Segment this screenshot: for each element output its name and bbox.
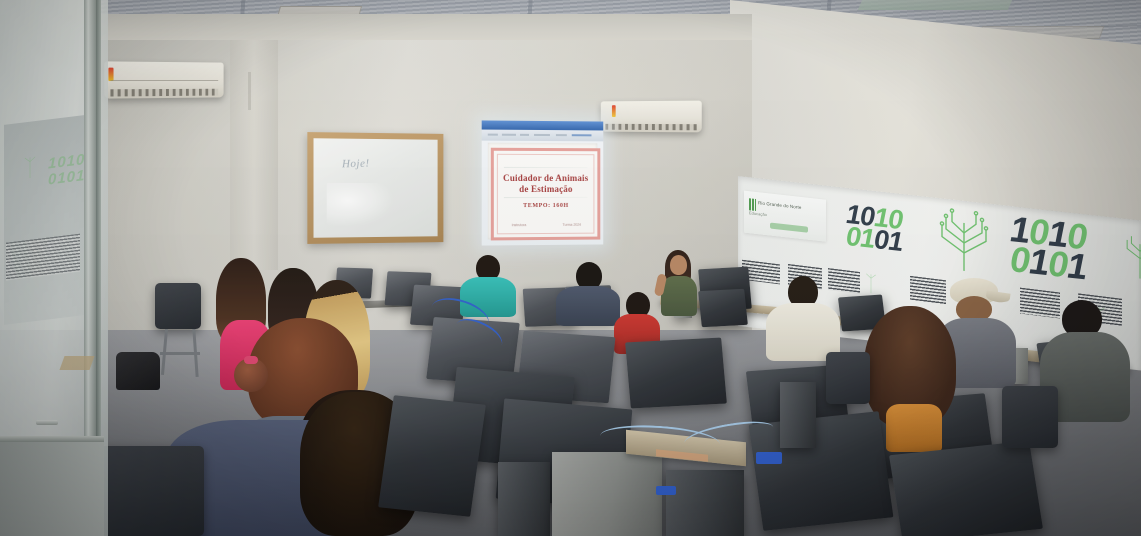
glass-reflection: 1010 0101 — [4, 115, 84, 325]
ribbon-tick — [488, 134, 498, 136]
chair-foreground-left — [100, 446, 204, 536]
ribbon-tick — [502, 134, 516, 136]
chair-left-back — [155, 283, 201, 329]
banner-logo-line2: Educação — [749, 210, 813, 222]
chair-right-1 — [826, 352, 870, 404]
floor-mat — [59, 356, 94, 370]
student-navy-mid-torso — [556, 286, 620, 326]
door-handle[interactable] — [36, 420, 58, 425]
slide-footnote-right: Turma 2024 — [556, 223, 588, 227]
banner-logo-line1: Rio Grande do Norte — [758, 200, 822, 212]
chair-right-2 — [1002, 386, 1058, 448]
slide-title-line2: de Estimação — [500, 184, 592, 194]
glass-reflection-circuit-icon — [18, 148, 42, 181]
ac-sticker-right — [612, 105, 616, 117]
monitor-foreground-4 — [889, 441, 1043, 536]
network-cable-3 — [756, 452, 782, 464]
ac-vent-right — [605, 124, 696, 130]
banner-digits-row2: 0101 — [846, 224, 902, 255]
monitor-mid-3 — [625, 337, 727, 408]
wall-column — [230, 40, 278, 270]
slide-inner-frame: Cuidador de Animais de Estimação TEMPO: … — [497, 154, 595, 235]
slide-band-top — [504, 167, 588, 168]
tower-foreground-4 — [780, 382, 816, 448]
whiteboard-surface: Hoje! — [314, 138, 438, 238]
glass-reflection-pc-row — [6, 234, 80, 281]
air-conditioner-left — [104, 61, 223, 98]
ribbon-tick — [556, 134, 567, 136]
ceiling-beam — [92, 14, 752, 40]
ribbon-tick — [572, 134, 592, 136]
chair-left-crossbar — [160, 352, 200, 355]
ac-conduit — [248, 72, 251, 110]
projector-app-ribbon — [482, 130, 604, 142]
student-curly-top — [886, 404, 942, 452]
glass-lower-panel — [0, 442, 104, 536]
whiteboard-handwriting: Hoje! — [341, 157, 369, 170]
circuit-tree-icon-wall-small — [860, 267, 882, 296]
projected-slide: Cuidador de Animais de Estimação TEMPO: … — [482, 120, 604, 245]
ac-vent-left — [110, 89, 218, 97]
ribbon-tick — [534, 134, 550, 136]
ac-seam-left — [110, 80, 218, 81]
classroom-photo: Rio Grande do Norte Educação 1010 0101 1… — [0, 0, 1141, 536]
glass-reflection-digits-2: 0101 — [48, 167, 85, 189]
slide-band-mid — [504, 197, 588, 198]
tower-foreground-1 — [498, 462, 550, 536]
whiteboard-glare — [326, 183, 395, 228]
air-conditioner-right — [601, 101, 702, 133]
slide-subtitle: TEMPO: 160H — [500, 203, 592, 209]
monitor-right-1 — [698, 289, 748, 327]
slide-frame: Cuidador de Animais de Estimação TEMPO: … — [491, 148, 600, 241]
instructor-torso — [661, 276, 697, 316]
ribbon-tick — [520, 134, 529, 136]
banner-logo-mark — [749, 198, 756, 211]
banner-logo-button — [770, 223, 808, 233]
student-bun-hairtie — [244, 356, 258, 364]
tower-foreground-3 — [666, 470, 744, 536]
banner-far-digits-row2: 0101 — [1010, 242, 1086, 284]
person-student-white-shirt — [762, 276, 842, 360]
person-instructor — [655, 250, 705, 320]
circuit-tree-icon-far — [1120, 228, 1141, 284]
trash-bin — [116, 352, 160, 390]
instructor-head — [670, 255, 687, 275]
monitor-foreground-left — [378, 395, 486, 517]
whiteboard: Hoje! — [307, 132, 443, 244]
person-student-navy-mid — [556, 262, 620, 324]
circuit-tree-icon — [936, 206, 992, 274]
slide-footnote-left: Instrutora — [504, 223, 534, 227]
network-cable-4 — [656, 486, 676, 495]
tower-foreground-2 — [552, 452, 662, 536]
slide-title-line1: Cuidador de Animais — [500, 173, 592, 183]
banner-logo-box: Rio Grande do Norte Educação — [744, 191, 826, 242]
